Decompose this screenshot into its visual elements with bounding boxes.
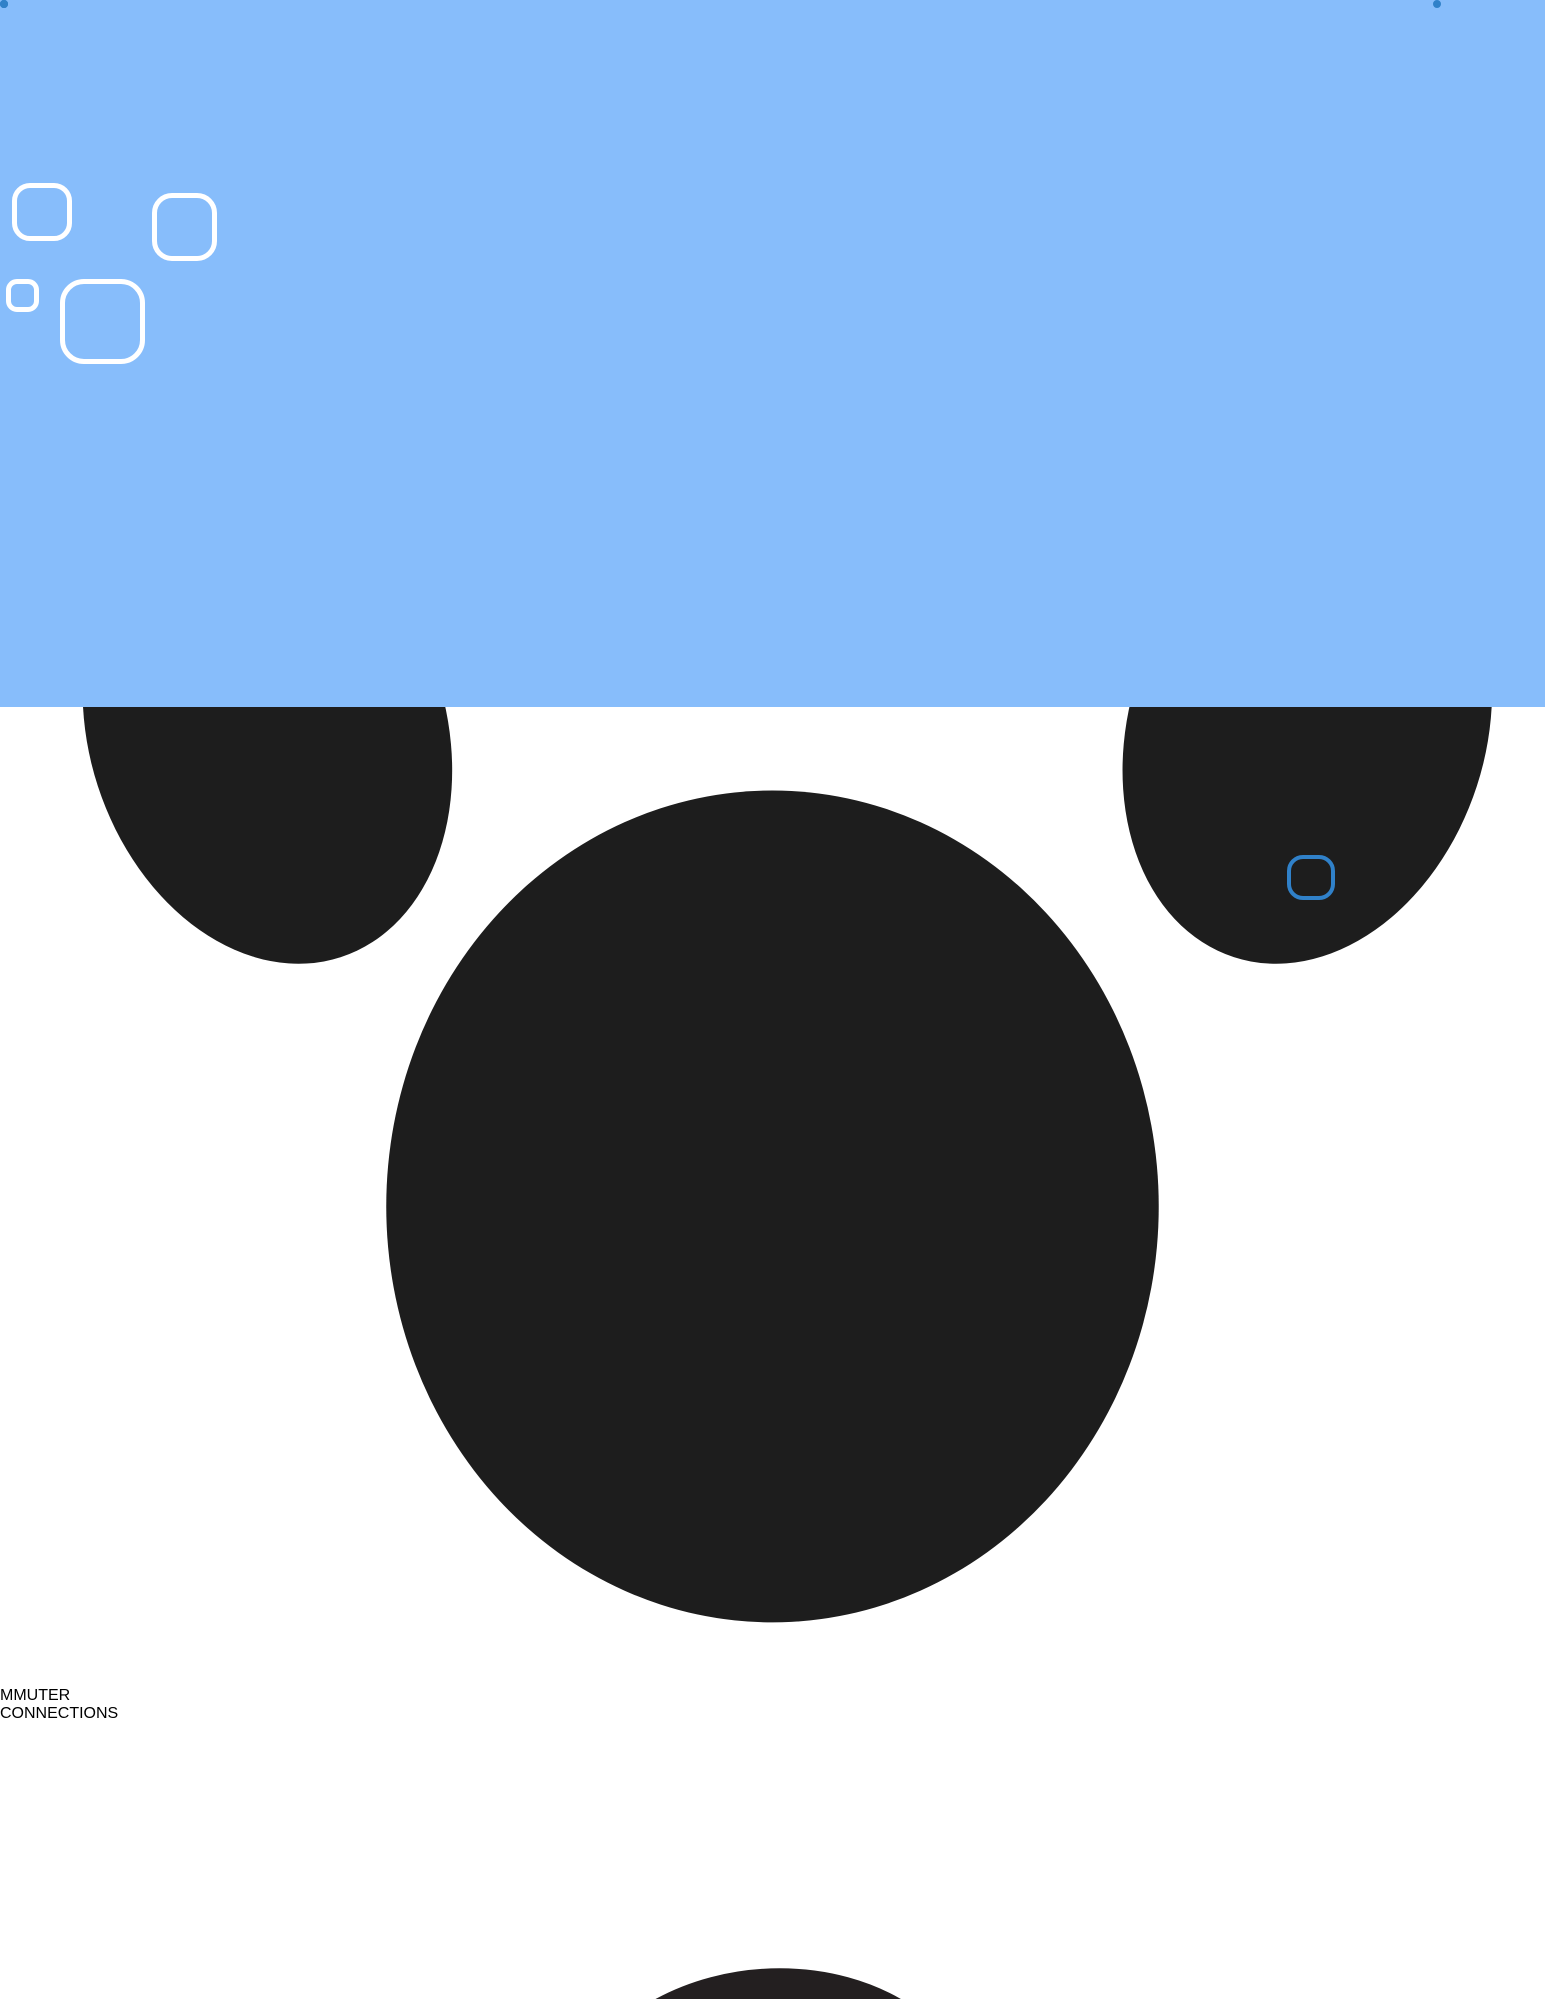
cloud-puff-icon: [0, 1891, 1545, 1999]
blue-banner-background: [0, 0, 1545, 707]
decorative-square-white-3: [6, 279, 39, 312]
brand-logo-connections: CONNECTIONS: [0, 1705, 1545, 1723]
decorative-square-white-1: [12, 183, 72, 241]
flyer-poster: C MMUTER CONNECTIONS: [0, 0, 1545, 1999]
decorative-square-blue-2: [1433, 0, 1441, 8]
decorative-square-white-4: [60, 279, 145, 364]
speed-line-4: [0, 1736, 13, 1802]
brand-commuter-rest: MMUTER: [0, 1687, 70, 1704]
decorative-square-white-2: [152, 193, 217, 261]
decorative-square-blue-6: [0, 0, 8, 8]
decorative-square-blue-1: [1287, 855, 1335, 900]
brand-connections-text: CONNECTIONS: [0, 1705, 118, 1722]
paw-print-icon: [0, 1669, 1545, 1686]
